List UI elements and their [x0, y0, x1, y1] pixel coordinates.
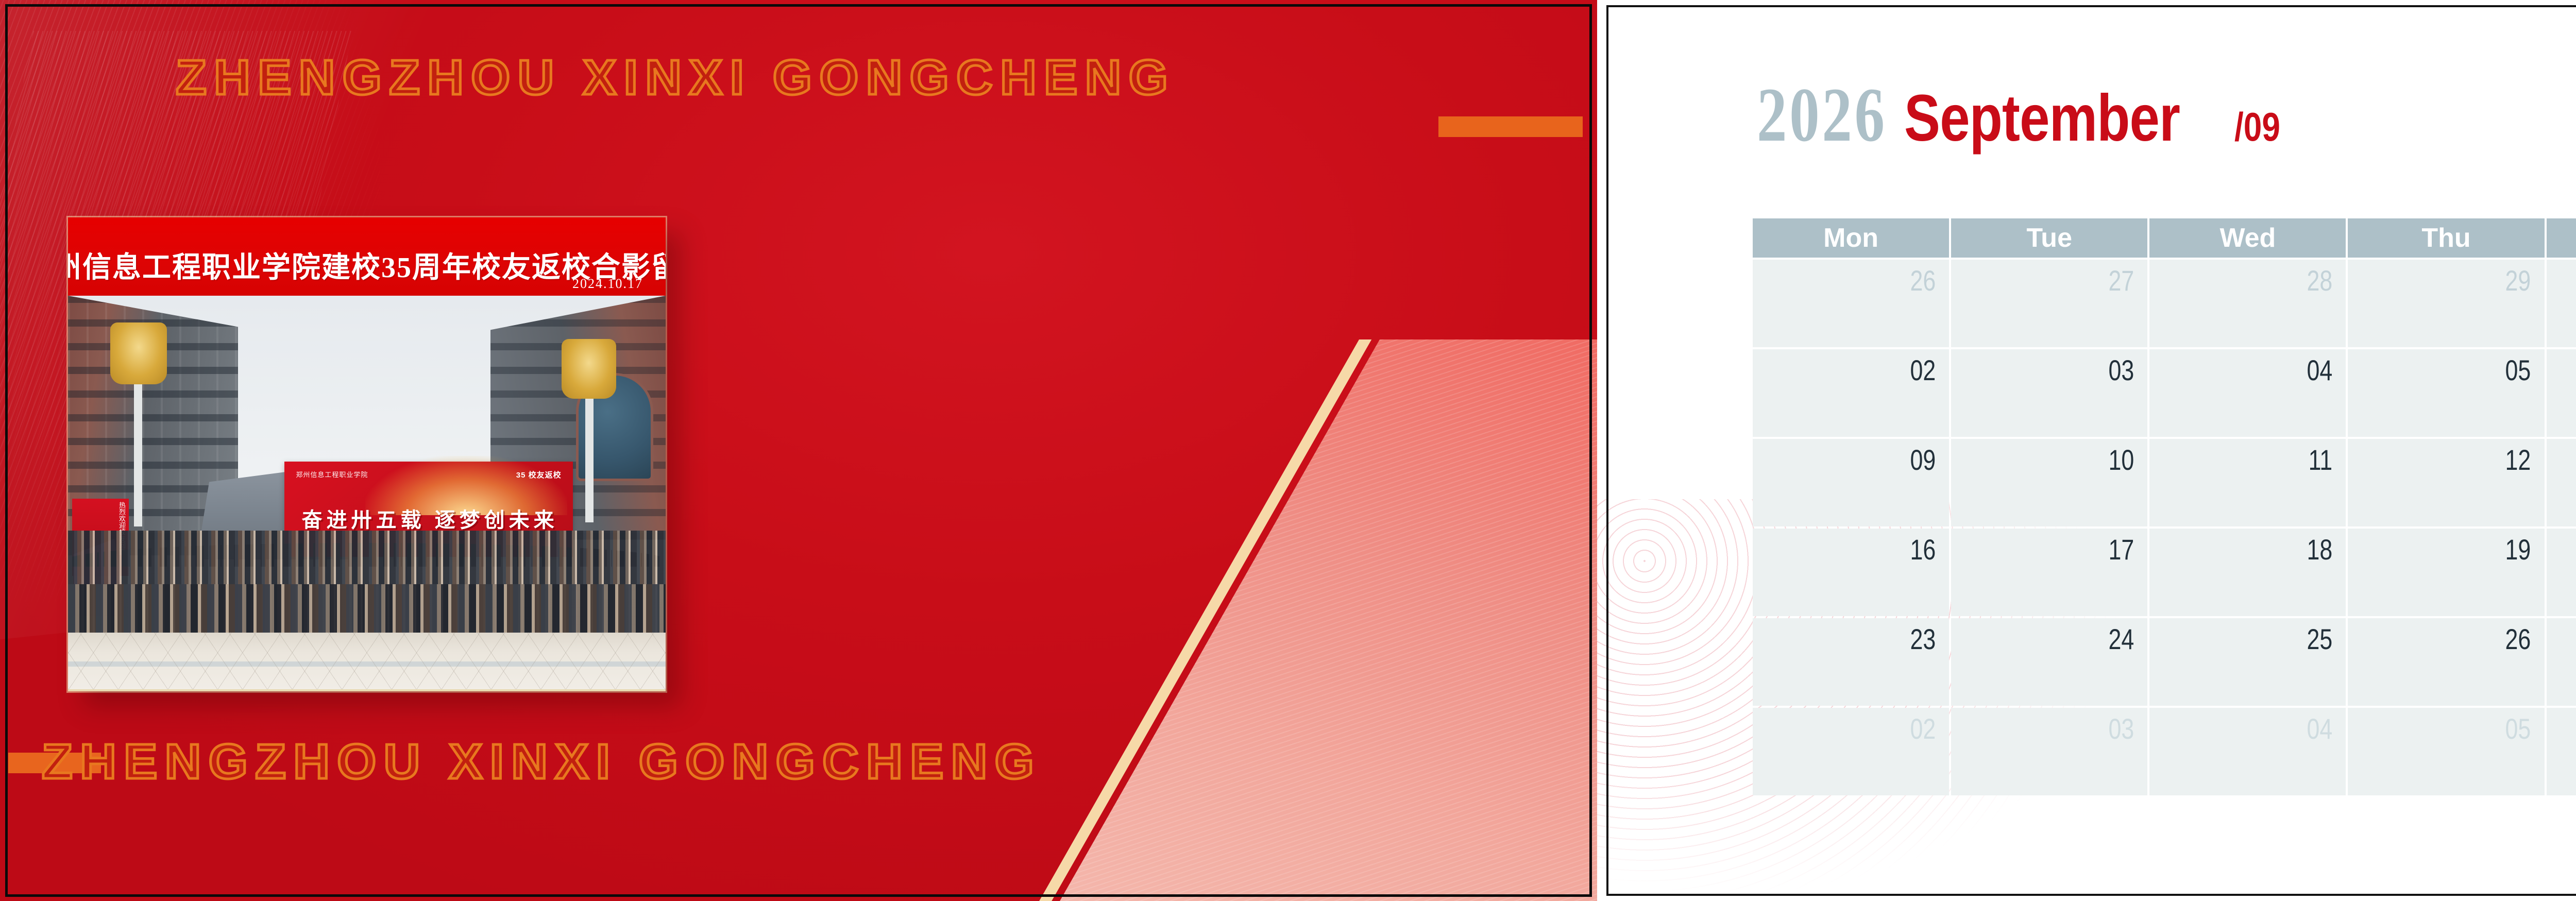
calendar-day-cell[interactable]: 26: [1753, 260, 1949, 347]
calendar-year: 2026: [1757, 76, 1887, 154]
orange-dash-top-decoration: [1438, 116, 1583, 137]
photo-stage-banner-anniversary: 35 校友返校: [516, 469, 562, 480]
weekday-header-mon: Mon: [1753, 218, 1949, 258]
calendar-day-number: 23: [1910, 622, 1936, 656]
calendar-month-wrap: September /09: [1904, 86, 2290, 151]
calendar-day-cell[interactable]: 02: [1753, 708, 1949, 795]
photo-stage-banner-slogan: 奋进卅五载 逐梦创未来: [302, 503, 562, 533]
photo-card: 郑州信息工程职业学院建校35周年校友返校合影留念 2024.10.17 热烈欢迎…: [68, 217, 666, 691]
calendar-page: ZHENGZHOU XINXI GONGCHENG 郑州信息工程职业学院建校35…: [0, 0, 2576, 901]
calendar-week-row: 16171819202122: [1753, 529, 2576, 616]
calendar-day-cell[interactable]: 11: [2149, 439, 2346, 526]
calendar-day-number: 05: [2505, 353, 2531, 387]
calendar-day-number: 16: [1910, 533, 1936, 566]
calendar-day-number: 02: [1910, 712, 1936, 745]
weekday-header-tue: Tue: [1951, 218, 2147, 258]
calendar-header: 2026 September /09: [1757, 76, 2290, 154]
calendar-body: 2627282930310102030405060708091011121314…: [1753, 260, 2576, 795]
calendar-day-cell[interactable]: 23: [1753, 618, 1949, 706]
calendar-day-number: 25: [2307, 622, 2333, 656]
left-photo-panel: ZHENGZHOU XINXI GONGCHENG 郑州信息工程职业学院建校35…: [0, 0, 1597, 901]
calendar-day-number: 19: [2505, 533, 2531, 566]
calendar-day-number: 26: [1910, 264, 1936, 297]
calendar-grid: Mon Tue Wed Thu Fri Sat Sun 262728293031…: [1751, 216, 2576, 797]
photo-street-lamp-right-head: [562, 339, 616, 399]
calendar-week-row: 02030405060708: [1753, 708, 2576, 795]
weekday-header-thu: Thu: [2348, 218, 2544, 258]
calendar-day-number: 24: [2108, 622, 2134, 656]
calendar-day-number: 17: [2108, 533, 2134, 566]
calendar-day-cell[interactable]: 05: [2348, 708, 2544, 795]
calendar-day-number: 10: [2108, 443, 2134, 477]
calendar-weekday-header-row: Mon Tue Wed Thu Fri Sat Sun: [1753, 218, 2576, 258]
right-calendar-panel: 2026 September /09 Mon Tue Wed Thu Fri S…: [1597, 0, 2576, 901]
calendar-day-number: 18: [2307, 533, 2333, 566]
weekday-header-fri: Fri: [2547, 218, 2576, 258]
calendar-day-number: 04: [2307, 353, 2333, 387]
calendar-day-cell[interactable]: 26: [2348, 618, 2544, 706]
calendar-day-number: 03: [2108, 353, 2134, 387]
calendar-week-row: 09101112131415: [1753, 439, 2576, 526]
calendar-day-cell[interactable]: 12: [2348, 439, 2544, 526]
calendar-day-cell[interactable]: 25: [2149, 618, 2346, 706]
calendar-day-cell[interactable]: 04: [2149, 708, 2346, 795]
photo-ground-tiles: [68, 633, 666, 689]
calendar-day-cell[interactable]: 24: [1951, 618, 2147, 706]
photo-banner-date: 2024.10.17: [572, 276, 643, 292]
photo-crowd-row-front: [68, 584, 666, 640]
photo-street-lamp-left-head: [110, 322, 167, 384]
calendar-day-cell[interactable]: 03: [1951, 708, 2147, 795]
calendar-day-number: 09: [1910, 443, 1936, 477]
calendar-day-cell[interactable]: 27: [1951, 260, 2147, 347]
weekday-header-wed: Wed: [2149, 218, 2346, 258]
calendar-day-cell[interactable]: 16: [1753, 529, 1949, 616]
calendar-day-cell[interactable]: 05: [2348, 349, 2544, 437]
calendar-day-cell[interactable]: 06: [2547, 349, 2576, 437]
calendar-day-number: 03: [2108, 712, 2134, 745]
calendar-day-cell[interactable]: 28: [2149, 260, 2346, 347]
group-photo-image: 热烈欢迎校友回家！ 郑州信息工程职业学院 35 校友返校 奋进卅五载 逐梦创未来: [68, 296, 666, 691]
calendar-day-number: 04: [2307, 712, 2333, 745]
calendar-day-cell[interactable]: 20: [2547, 529, 2576, 616]
calendar-day-cell[interactable]: 09: [1753, 439, 1949, 526]
calendar-month-number: /09: [2234, 107, 2280, 147]
pinyin-title-bottom: ZHENGZHOU XINXI GONGCHENG: [42, 734, 1041, 790]
calendar-day-cell[interactable]: 17: [1951, 529, 2147, 616]
calendar-week-row: 23242526272801: [1753, 618, 2576, 706]
calendar-day-number: 02: [1910, 353, 1936, 387]
calendar-day-cell[interactable]: 13: [2547, 439, 2576, 526]
calendar-day-cell[interactable]: 30: [2547, 260, 2576, 347]
calendar-week-row: 26272829303101: [1753, 260, 2576, 347]
photo-banner: 郑州信息工程职业学院建校35周年校友返校合影留念 2024.10.17: [68, 217, 666, 296]
calendar-day-cell[interactable]: 06: [2547, 708, 2576, 795]
calendar-week-row: 02030405060708: [1753, 349, 2576, 437]
calendar-day-cell[interactable]: 19: [2348, 529, 2544, 616]
calendar-day-cell[interactable]: 29: [2348, 260, 2544, 347]
calendar-day-cell[interactable]: 18: [2149, 529, 2346, 616]
calendar-day-cell[interactable]: 04: [2149, 349, 2346, 437]
calendar-day-cell[interactable]: 27: [2547, 618, 2576, 706]
calendar-day-number: 28: [2307, 264, 2333, 297]
calendar-day-number: 11: [2309, 443, 2333, 477]
calendar-day-cell[interactable]: 10: [1951, 439, 2147, 526]
photo-stage-banner-org: 郑州信息工程职业学院: [296, 469, 368, 479]
calendar-day-number: 05: [2505, 712, 2531, 745]
calendar-day-cell[interactable]: 03: [1951, 349, 2147, 437]
calendar-month-name: September: [1904, 86, 2180, 151]
calendar-day-number: 26: [2505, 622, 2531, 656]
calendar-day-cell[interactable]: 02: [1753, 349, 1949, 437]
calendar-day-number: 27: [2108, 264, 2134, 297]
pinyin-title-top: ZHENGZHOU XINXI GONGCHENG: [176, 49, 1175, 106]
calendar-day-number: 12: [2505, 443, 2531, 477]
calendar-day-number: 29: [2505, 264, 2531, 297]
